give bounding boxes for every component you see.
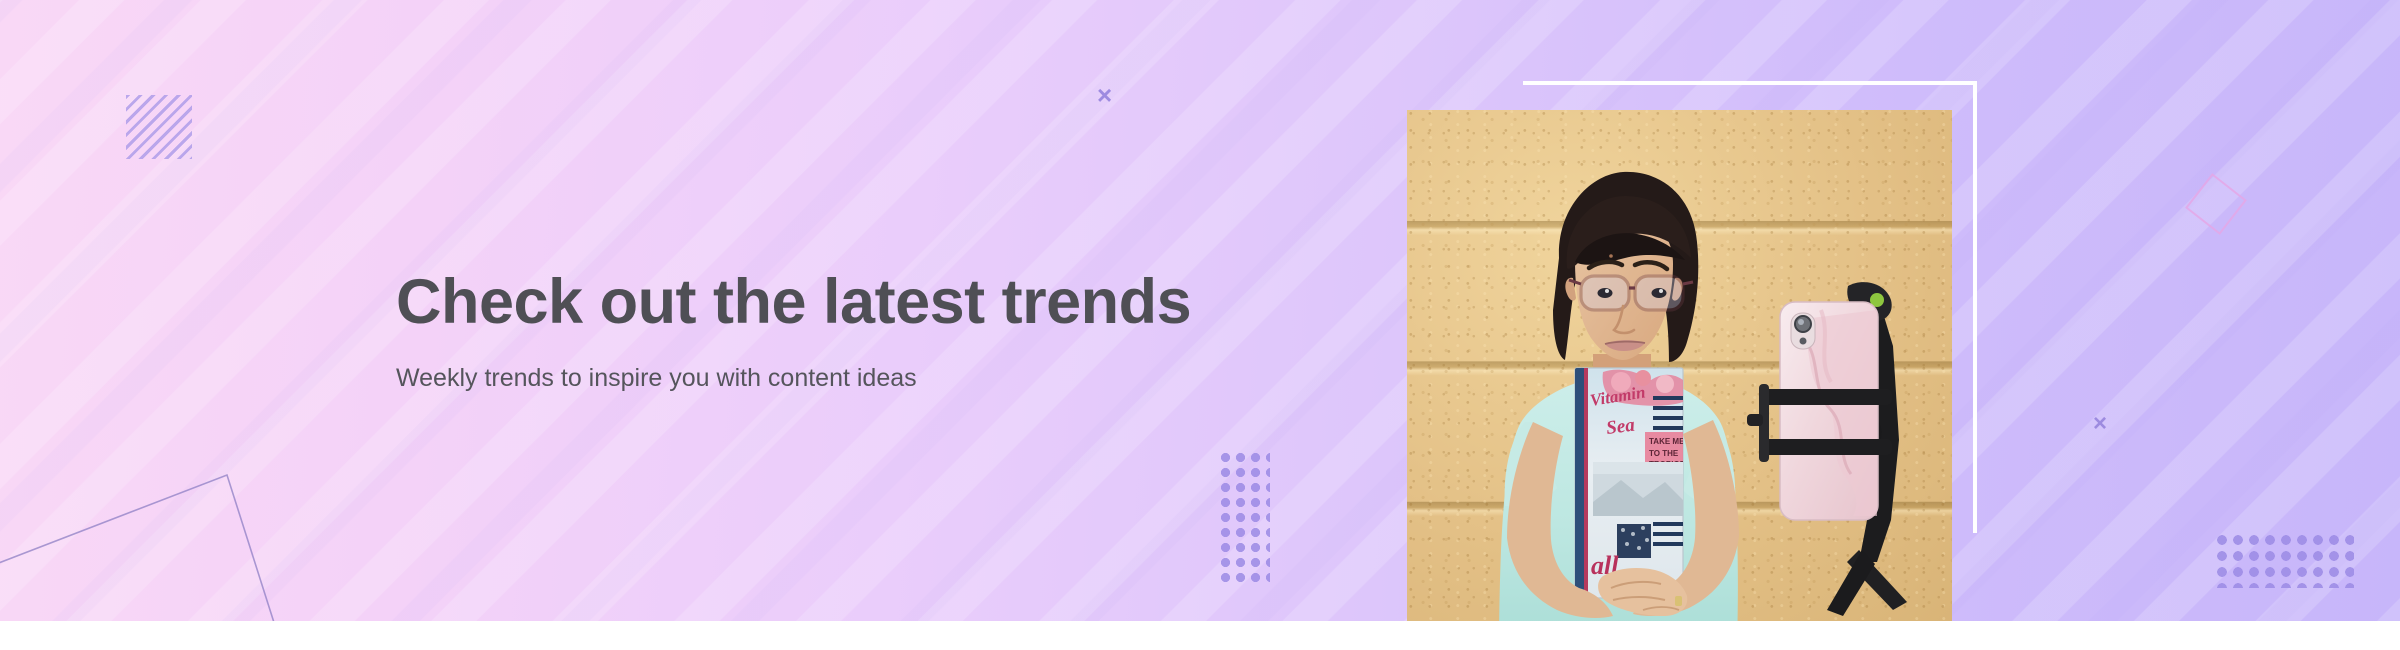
hero-banner: × × Check out the latest trends Weekly t… bbox=[0, 0, 2400, 621]
hatched-square-decoration bbox=[126, 95, 192, 159]
person-illustration: Vitamin Sea TAKE ME TO THE TROPICS bbox=[1407, 110, 1952, 650]
svg-text:TO THE: TO THE bbox=[1649, 449, 1679, 458]
polygon-outline-decoration bbox=[0, 460, 296, 621]
diamond-outline-decoration bbox=[2185, 173, 2247, 235]
page-background-bottom bbox=[0, 621, 2400, 650]
banner-screenshot: × × Check out the latest trends Weekly t… bbox=[0, 0, 2400, 650]
dot-grid-decoration-left bbox=[1216, 448, 1270, 586]
page-subtitle: Weekly trends to inspire you with conten… bbox=[396, 362, 1296, 395]
magazine: Vitamin Sea TAKE ME TO THE TROPICS bbox=[1575, 368, 1687, 598]
hero-photo: Vitamin Sea TAKE ME TO THE TROPICS bbox=[1407, 110, 1952, 650]
page-title: Check out the latest trends bbox=[396, 268, 1296, 336]
svg-text:Sea: Sea bbox=[1605, 415, 1636, 439]
x-mark-icon-right: × bbox=[2093, 412, 2107, 436]
phone-with-marble-case bbox=[1747, 302, 1892, 520]
person-head bbox=[1553, 172, 1698, 362]
dot-grid-decoration-right bbox=[2212, 530, 2354, 588]
x-mark-icon-top: × bbox=[1097, 82, 1112, 108]
svg-text:TAKE ME: TAKE ME bbox=[1649, 437, 1685, 446]
hero-text-block: Check out the latest trends Weekly trend… bbox=[396, 268, 1296, 395]
